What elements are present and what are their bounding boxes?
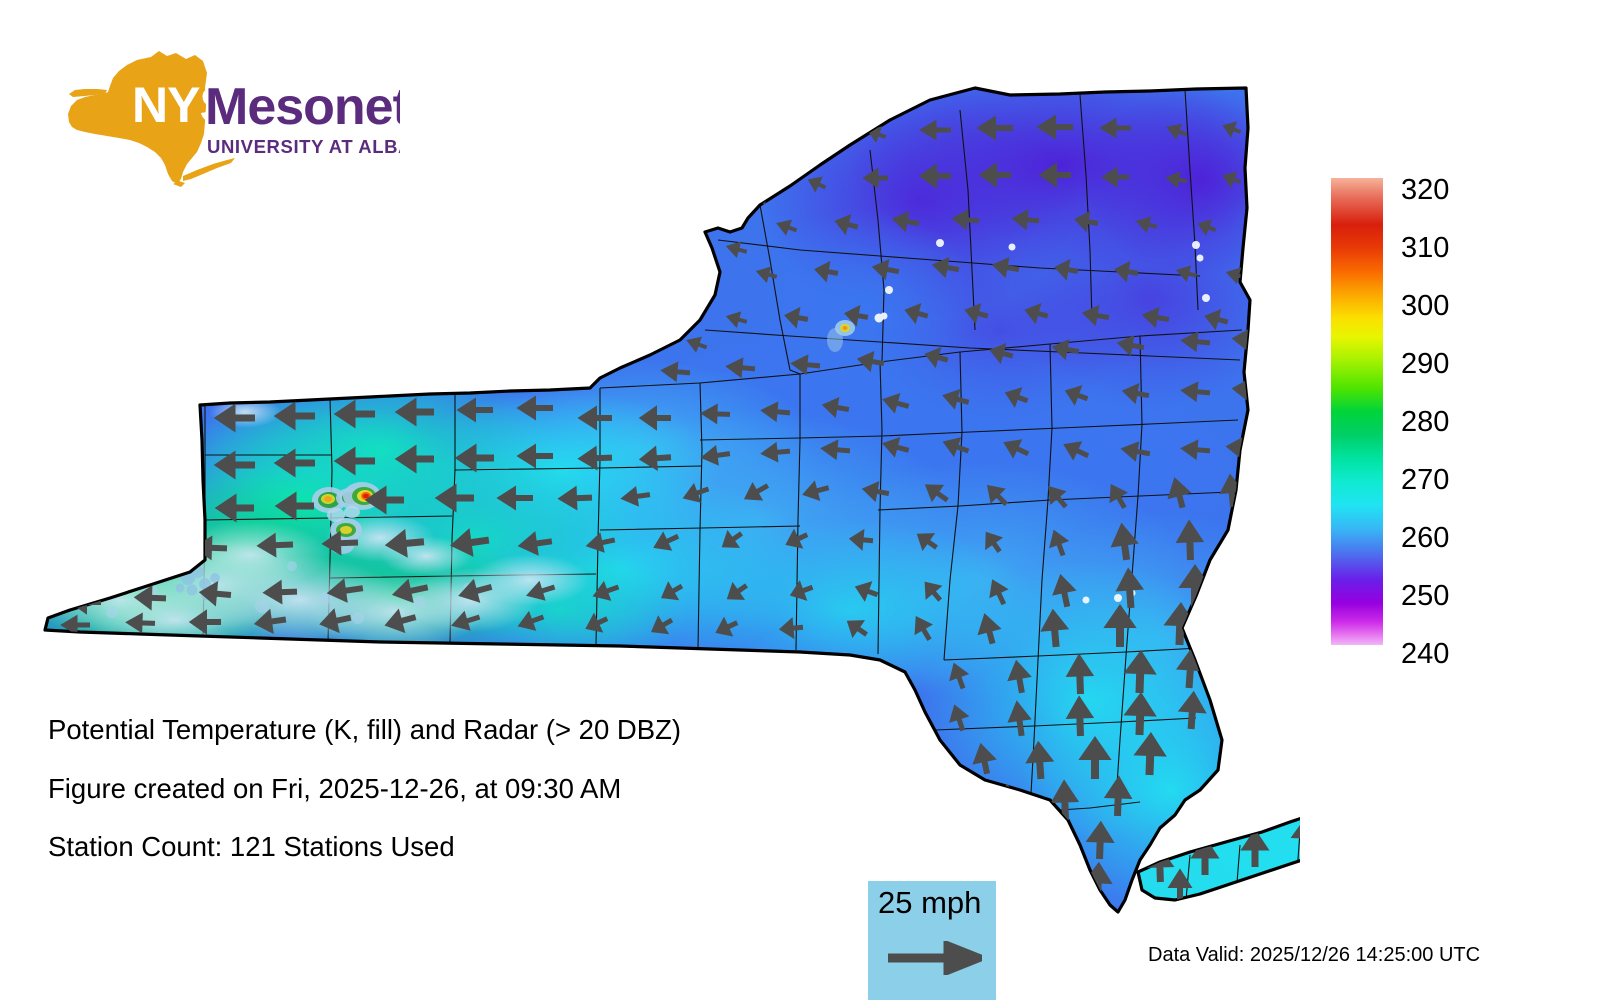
- colorbar-tick-300: 300: [1401, 292, 1449, 321]
- colorbar-tick-270: 270: [1401, 466, 1449, 495]
- caption-block: Potential Temperature (K, fill) and Rada…: [48, 716, 888, 892]
- colorbar-tick-280: 280: [1401, 408, 1449, 437]
- colorbar-gradient: [1331, 178, 1383, 645]
- colorbar-tick-320: 320: [1401, 176, 1449, 205]
- wind-reference-arrow-icon: [886, 941, 982, 980]
- wind-speed-legend-label: 25 mph: [878, 887, 981, 918]
- colorbar-tick-290: 290: [1401, 350, 1449, 379]
- caption-stations: Station Count: 121 Stations Used: [48, 833, 888, 861]
- colorbar-tick-310: 310: [1401, 234, 1449, 263]
- caption-title: Potential Temperature (K, fill) and Rada…: [48, 716, 888, 744]
- wind-speed-legend: 25 mph: [868, 881, 996, 1000]
- colorbar-tick-240: 240: [1401, 640, 1449, 669]
- colorbar: 320 310 300 290 280 270 260 250 240: [1331, 178, 1581, 648]
- colorbar-tick-260: 260: [1401, 524, 1449, 553]
- colorbar-tick-250: 250: [1401, 582, 1449, 611]
- data-valid-timestamp: Data Valid: 2025/12/26 14:25:00 UTC: [1148, 945, 1480, 965]
- colorbar-tick-labels: 320 310 300 290 280 270 260 250 240: [1401, 162, 1571, 662]
- caption-created: Figure created on Fri, 2025-12-26, at 09…: [48, 775, 888, 803]
